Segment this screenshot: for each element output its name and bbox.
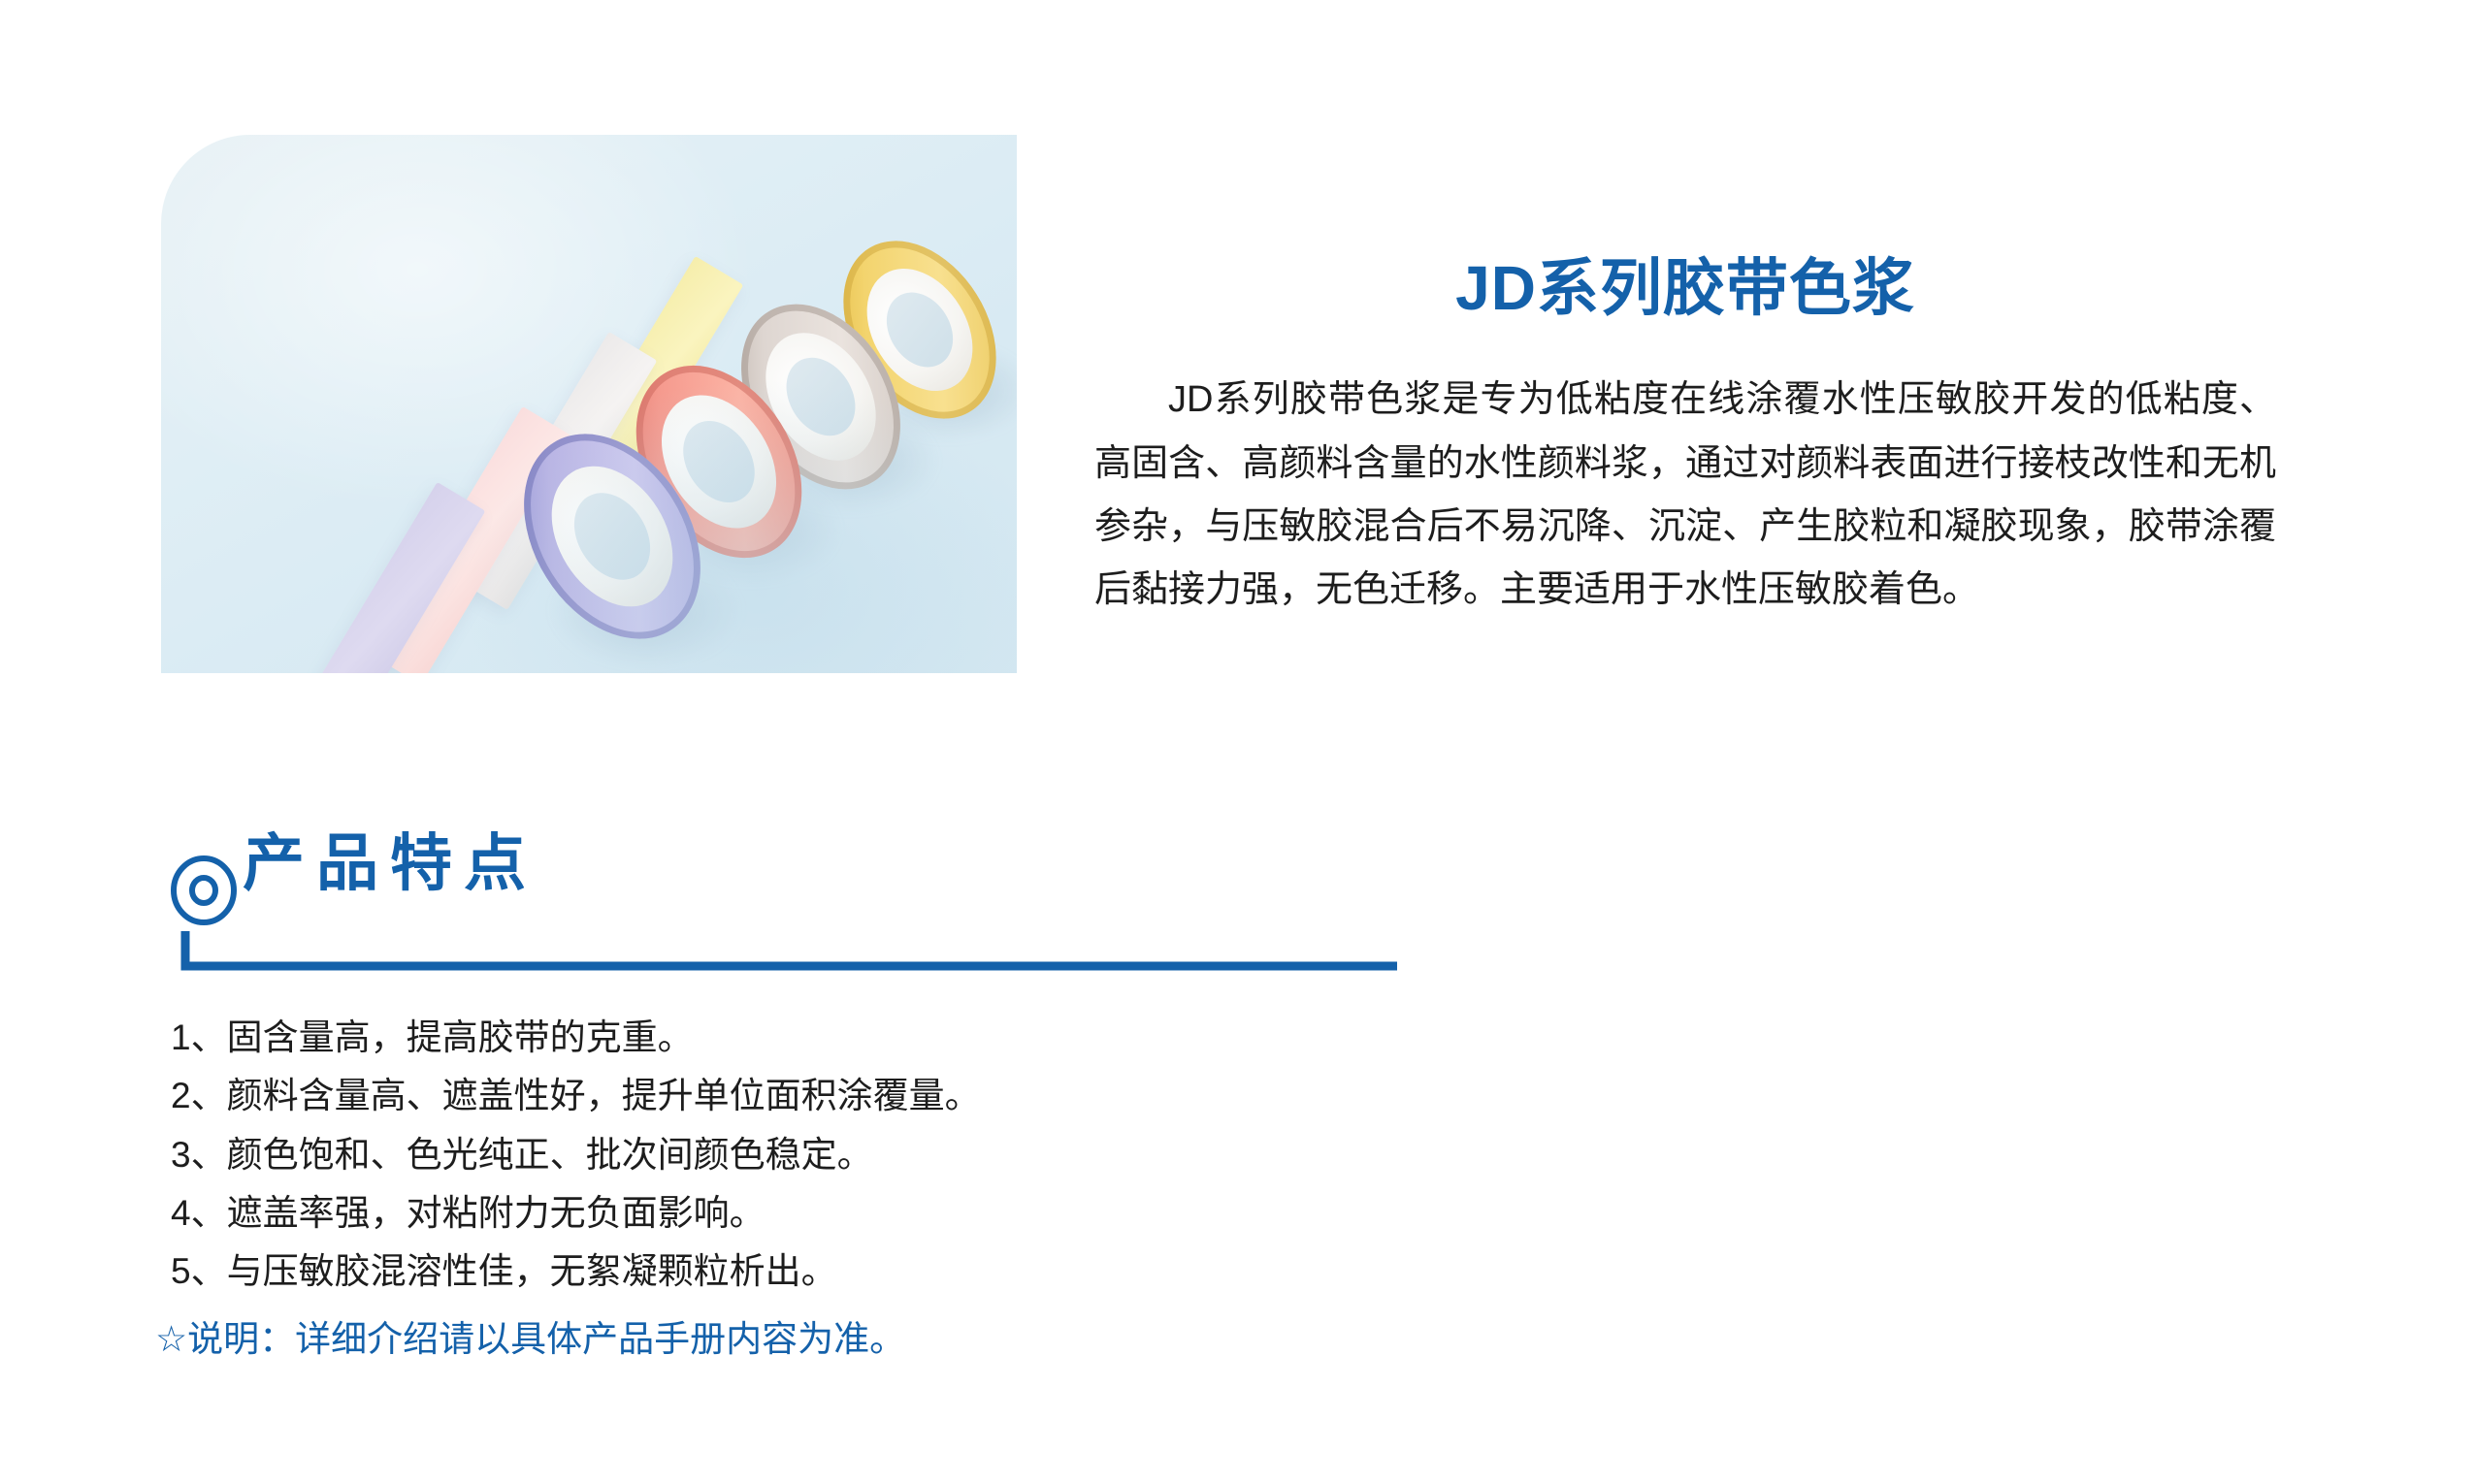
roll-hole — [668, 407, 769, 515]
disclaimer-note: ☆说明：详细介绍请以具体产品手册内容为准。 — [155, 1309, 905, 1362]
page-title: JD系列胶带色浆 — [1094, 254, 2276, 322]
target-circle-icon — [167, 855, 241, 929]
product-description: JD系列胶带色浆是专为低粘度在线涂覆水性压敏胶开发的低粘度、高固含、高颜料含量的… — [1094, 369, 2276, 622]
roll-core — [638, 374, 800, 550]
feature-item: 5、与压敏胶混溶性佳，无絮凝颗粒析出。 — [171, 1242, 981, 1301]
hero-copy: JD系列胶带色浆 JD系列胶带色浆是专为低粘度在线涂覆水性压敏胶开发的低粘度、高… — [1094, 254, 2276, 623]
feature-list: 1、固含量高，提高胶带的克重。 2、颜料含量高、遮盖性好，提升单位面积涂覆量。 … — [171, 1009, 981, 1301]
feature-item: 2、颜料含量高、遮盖性好，提升单位面积涂覆量。 — [171, 1067, 981, 1125]
hero-section: JD系列胶带色浆 JD系列胶带色浆是专为低粘度在线涂覆水性压敏胶开发的低粘度、高… — [0, 0, 2476, 766]
features-section: 产品特点 1、固含量高，提高胶带的克重。 2、颜料含量高、遮盖性好，提升单位面积… — [0, 805, 2476, 989]
purple-roll-shadow — [549, 552, 743, 668]
feature-item: 4、遮盖率强，对粘附力无负面影响。 — [171, 1184, 981, 1242]
feature-item: 1、固含量高，提高胶带的克重。 — [171, 1009, 981, 1067]
beige-roll-shadow — [761, 408, 939, 513]
section-title: 产品特点 — [243, 832, 538, 894]
coral-roll-shadow — [658, 476, 842, 585]
product-photo — [161, 135, 1017, 673]
roll-hole — [559, 479, 666, 595]
roll-core — [527, 444, 698, 629]
section-header: 产品特点 — [0, 805, 2476, 989]
photo-backdrop — [161, 135, 1017, 673]
section-divider — [180, 931, 1397, 972]
feature-item: 3、颜色饱和、色光纯正、批次间颜色稳定。 — [171, 1126, 981, 1184]
